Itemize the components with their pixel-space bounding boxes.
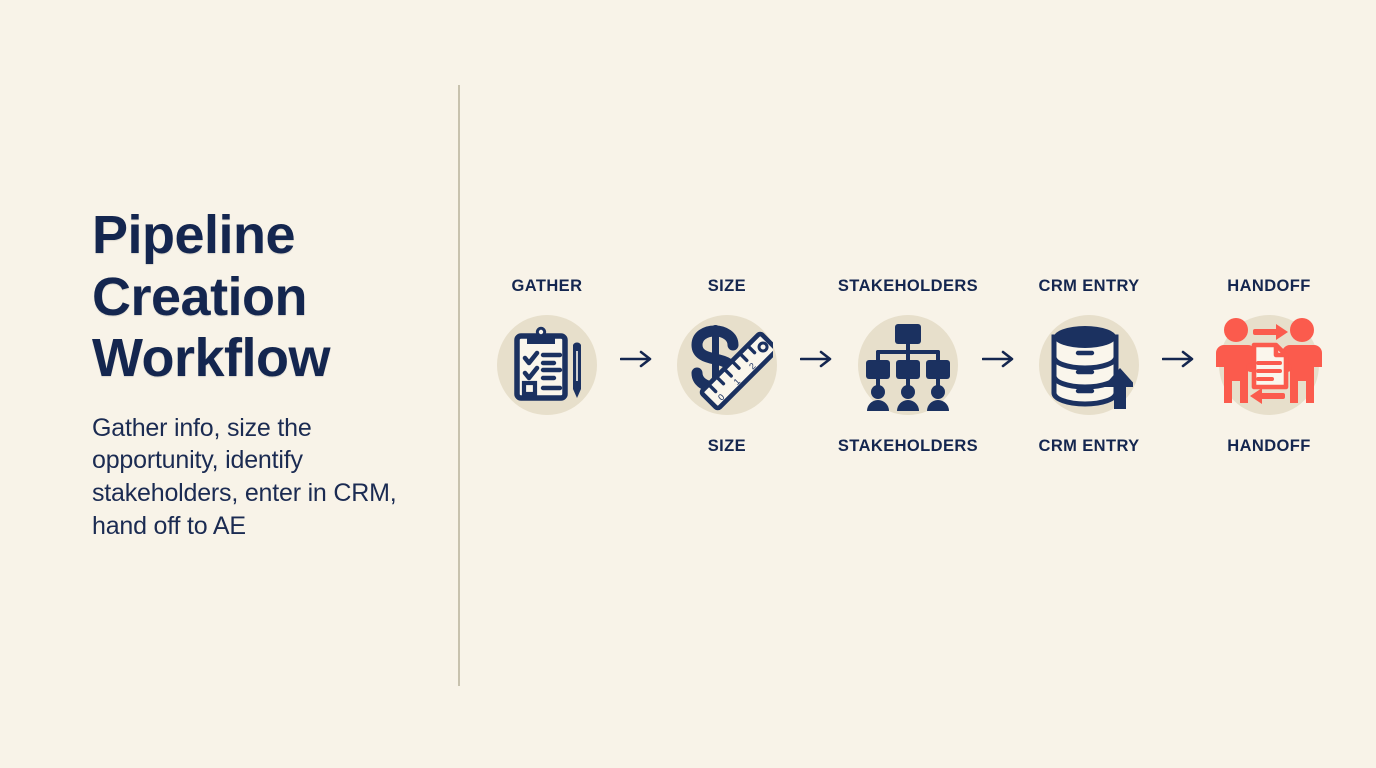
workflow-step-handoff[interactable]: HANDOFF [1200, 275, 1338, 457]
page-title: Pipeline Creation Workflow [92, 205, 422, 390]
icon-wrap-gather [493, 311, 601, 419]
page-subtitle: Gather info, size the opportunity, ident… [92, 412, 422, 543]
step-label-top-size: SIZE [708, 275, 746, 297]
connector-4 [1158, 275, 1200, 369]
left-panel: Pipeline Creation Workflow Gather info, … [92, 205, 422, 543]
step-label-top-gather: GATHER [512, 275, 583, 297]
icon-wrap-size: 0 1 2 [673, 311, 781, 419]
arrow-right-icon [982, 349, 1016, 369]
step-label-bottom-size: SIZE [708, 435, 746, 457]
icon-wrap-handoff [1215, 311, 1323, 419]
slide-canvas: Pipeline Creation Workflow Gather info, … [0, 0, 1376, 768]
clipboard-checklist-pen-icon [503, 321, 591, 409]
connector-2 [796, 275, 838, 369]
workflow-step-gather[interactable]: GATHER [478, 275, 616, 457]
workflow-step-stakeholders[interactable]: STAKEHOLDERS [838, 275, 978, 457]
people-handoff-document-icon [1216, 315, 1322, 415]
arrow-right-icon [1162, 349, 1196, 369]
connector-1 [616, 275, 658, 369]
step-label-top-stakeholders: STAKEHOLDERS [838, 275, 978, 297]
connector-3 [978, 275, 1020, 369]
database-upload-icon [1045, 321, 1133, 409]
arrow-right-icon [620, 349, 654, 369]
step-label-bottom-handoff: HANDOFF [1227, 435, 1310, 457]
workflow-diagram: GATHER [478, 275, 1338, 457]
step-label-top-handoff: HANDOFF [1227, 275, 1310, 297]
step-label-bottom-stakeholders: STAKEHOLDERS [838, 435, 978, 457]
workflow-step-crm-entry[interactable]: CRM ENTRY [1020, 275, 1158, 457]
step-label-bottom-crm-entry: CRM ENTRY [1039, 435, 1140, 457]
step-label-top-crm-entry: CRM ENTRY [1039, 275, 1140, 297]
icon-wrap-crm-entry [1035, 311, 1143, 419]
arrow-right-icon [800, 349, 834, 369]
vertical-divider [458, 85, 460, 686]
org-chart-people-icon [862, 319, 954, 411]
workflow-step-size[interactable]: SIZE [658, 275, 796, 457]
dollar-ruler-icon: 0 1 2 [681, 319, 773, 411]
icon-wrap-stakeholders [854, 311, 962, 419]
